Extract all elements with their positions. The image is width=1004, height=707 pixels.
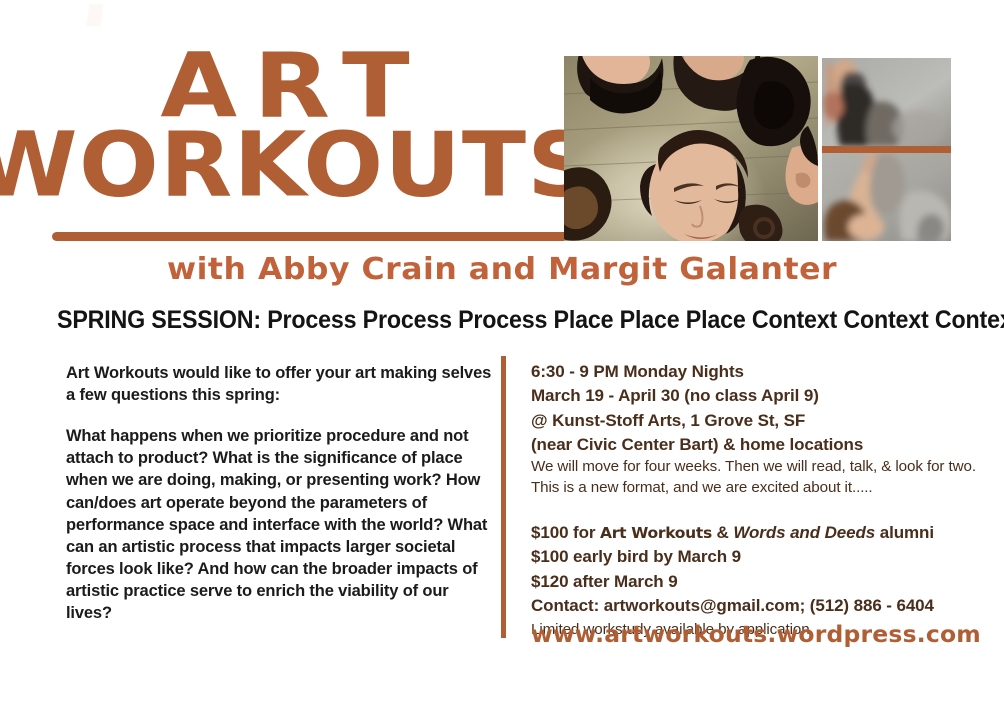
price-after-deadline: $120 after March 9 [531, 570, 981, 595]
session-headline: SPRING SESSION: Process Process Process … [57, 306, 894, 335]
schedule-line-transit: (near Civic Center Bart) & home location… [531, 433, 981, 457]
paragraph-gap [66, 406, 496, 425]
price-alumni-prefix: $100 for [531, 523, 600, 542]
price-early-bird: $100 early bird by March 9 [531, 545, 981, 570]
column-divider-rule [501, 356, 506, 638]
bottom-photo [822, 153, 951, 241]
right-column: 6:30 - 9 PM Monday Nights March 19 - Apr… [531, 360, 981, 640]
brand-words-and-deeds: Words and Deeds [733, 523, 875, 542]
poster-title: ART WORKOUTS [0, 48, 570, 205]
price-alumni-mid: & [712, 523, 733, 542]
poster-subtitle: with Abby Crain and Margit Galanter [0, 252, 1004, 287]
main-photo-art [564, 56, 818, 241]
photo-divider-rule [822, 146, 951, 153]
poster-canvas: ART WORKOUTS [0, 0, 1004, 707]
schedule-line-time: 6:30 - 9 PM Monday Nights [531, 360, 981, 384]
questions-paragraph: What happens when we prioritize procedur… [66, 425, 496, 624]
faint-artifact [86, 4, 103, 26]
schedule-line-dates: March 19 - April 30 (no class April 9) [531, 384, 981, 408]
left-column: Art Workouts would like to offer your ar… [66, 362, 496, 624]
brand-art-workouts: Art Workouts [600, 524, 712, 542]
title-line-workouts: WORKOUTS [0, 125, 604, 207]
intro-paragraph: Art Workouts would like to offer your ar… [66, 362, 496, 406]
schedule-note: We will move for four weeks. Then we wil… [531, 457, 981, 498]
contact-line[interactable]: Contact: artworkouts@gmail.com; (512) 88… [531, 594, 981, 619]
bottom-photo-art [822, 153, 951, 241]
title-underline-rule [52, 232, 633, 241]
website-url[interactable]: www.artworkouts.wordpress.com [531, 622, 981, 648]
price-alumni-suffix: alumni [875, 523, 934, 542]
main-photo [564, 56, 818, 241]
photo-column [822, 58, 951, 241]
top-photo [822, 58, 951, 146]
price-alumni-line: $100 for Art Workouts & Words and Deeds … [531, 521, 981, 546]
top-photo-art [822, 58, 951, 146]
right-column-gap [531, 499, 981, 521]
schedule-line-venue: @ Kunst-Stoff Arts, 1 Grove St, SF [531, 409, 981, 433]
